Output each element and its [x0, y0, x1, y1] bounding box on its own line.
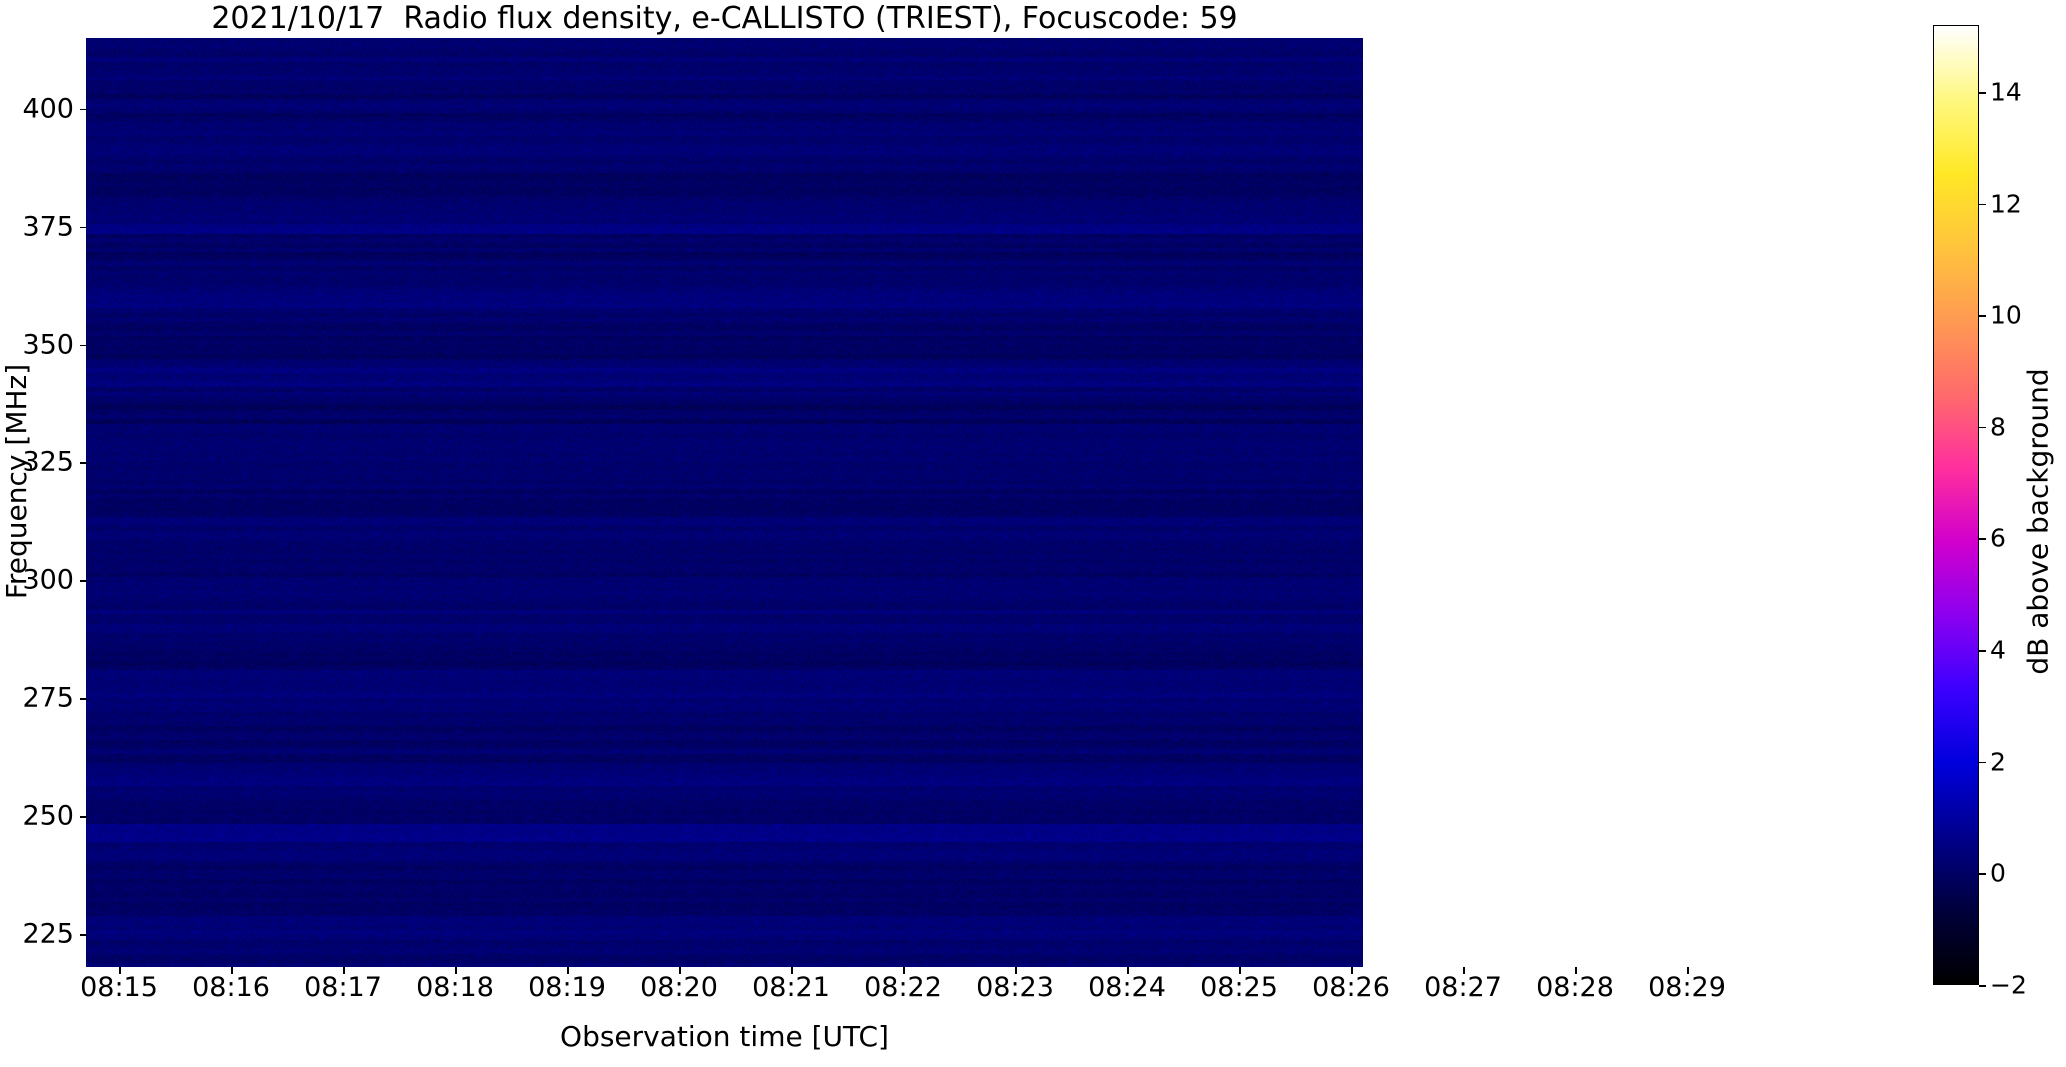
colorbar-gradient	[1933, 25, 1979, 985]
x-axis-tick-label: 08:27	[1424, 972, 1502, 1003]
colorbar-tick-label: 14	[1990, 77, 2022, 106]
colorbar-tick-label: 6	[1990, 524, 2006, 553]
y-axis-tick-mark	[80, 345, 87, 347]
colorbar-tick-mark	[1979, 873, 1986, 875]
spectrogram-image	[86, 38, 1363, 967]
x-axis-tick-mark	[679, 967, 681, 974]
colorbar[interactable]	[1933, 25, 1979, 985]
colorbar-tick-mark	[1979, 427, 1986, 429]
colorbar-tick-mark	[1979, 315, 1986, 317]
x-axis-tick-mark	[1239, 967, 1241, 974]
x-axis-tick-label: 08:25	[1200, 972, 1278, 1003]
x-axis-tick-mark	[791, 967, 793, 974]
x-axis-tick-mark	[1127, 967, 1129, 974]
spectrogram-axes[interactable]	[86, 38, 1363, 967]
x-axis-tick-mark	[119, 967, 121, 974]
colorbar-tick-mark	[1979, 985, 1986, 987]
colorbar-tick-mark	[1979, 92, 1986, 94]
colorbar-tick-mark	[1979, 650, 1986, 652]
x-axis-tick-label: 08:24	[1088, 972, 1166, 1003]
colorbar-tick-mark	[1979, 762, 1986, 764]
y-axis-tick-mark	[80, 227, 87, 229]
x-axis-tick-label: 08:16	[192, 972, 270, 1003]
x-axis-tick-mark	[567, 967, 569, 974]
x-axis-tick-label: 08:19	[528, 972, 606, 1003]
y-axis-label: Frequency [MHz]	[0, 17, 33, 946]
y-axis-tick-mark	[80, 698, 87, 700]
colorbar-tick-label: 8	[1990, 412, 2006, 441]
x-axis-tick-mark	[231, 967, 233, 974]
x-axis-tick-label: 08:21	[752, 972, 830, 1003]
y-axis-tick-mark	[80, 580, 87, 582]
x-axis-tick-label: 08:28	[1536, 972, 1614, 1003]
x-axis-tick-label: 08:22	[864, 972, 942, 1003]
x-axis-tick-mark	[343, 967, 345, 974]
x-axis-tick-label: 08:26	[1312, 972, 1390, 1003]
page-title: 2021/10/17 Radio flux density, e-CALLIST…	[86, 2, 1363, 36]
colorbar-tick-label: 0	[1990, 859, 2006, 888]
colorbar-tick-label: 10	[1990, 301, 2022, 330]
y-axis-tick-mark	[80, 816, 87, 818]
colorbar-axis-label: dB above background	[2022, 42, 2055, 1002]
x-axis-label: Observation time [UTC]	[86, 1020, 1363, 1053]
colorbar-tick-label: 2	[1990, 747, 2006, 776]
x-axis-tick-mark	[1463, 967, 1465, 974]
y-axis-tick-mark	[80, 462, 87, 464]
colorbar-tick-mark	[1979, 538, 1986, 540]
x-axis-tick-labels: 08:1508:1608:1708:1808:1908:2008:2108:22…	[86, 972, 1363, 1010]
x-axis-tick-label: 08:18	[416, 972, 494, 1003]
x-axis-tick-mark	[1351, 967, 1353, 974]
x-axis-tick-mark	[1687, 967, 1689, 974]
x-axis-tick-mark	[455, 967, 457, 974]
figure-canvas: 2021/10/17 Radio flux density, e-CALLIST…	[0, 0, 2066, 1067]
colorbar-tick-mark	[1979, 204, 1986, 206]
y-axis-tick-mark	[80, 934, 87, 936]
x-axis-tick-label: 08:17	[304, 972, 382, 1003]
x-axis-tick-label: 08:20	[640, 972, 718, 1003]
colorbar-tick-label: 4	[1990, 636, 2006, 665]
x-axis-tick-label: 08:29	[1648, 972, 1726, 1003]
x-axis-tick-mark	[903, 967, 905, 974]
x-axis-tick-label: 08:23	[976, 972, 1054, 1003]
x-axis-tick-mark	[1015, 967, 1017, 974]
x-axis-tick-label: 08:15	[80, 972, 158, 1003]
colorbar-tick-label: 12	[1990, 189, 2022, 218]
y-axis-tick-mark	[80, 109, 87, 111]
x-axis-tick-mark	[1575, 967, 1577, 974]
